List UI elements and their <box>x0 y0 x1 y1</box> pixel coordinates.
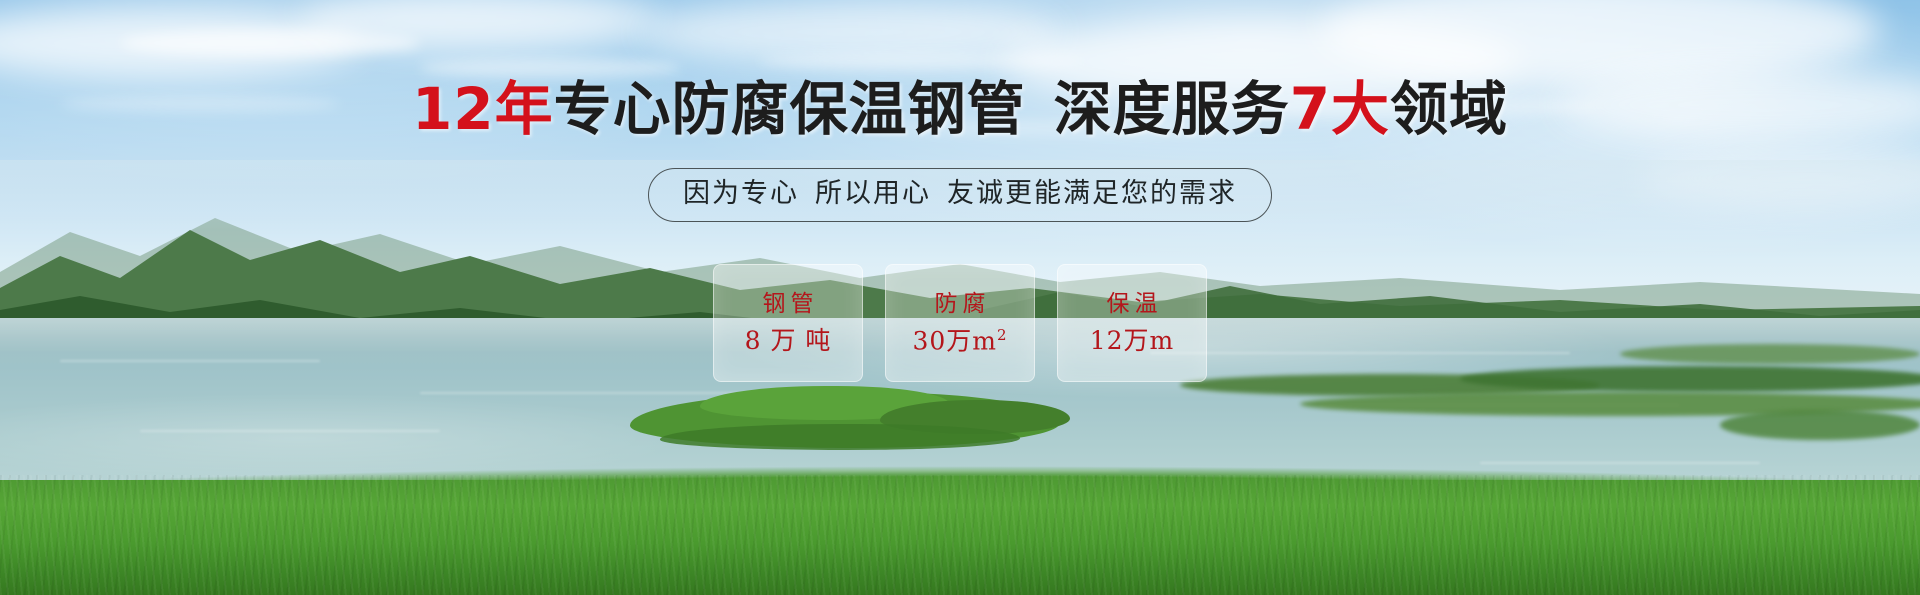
stat-card-value: 8 万 吨 <box>745 328 832 353</box>
stat-card-insulation: 保温 12万m <box>1057 264 1207 382</box>
headline-fields: 领域 <box>1390 75 1508 143</box>
headline: 12年专心防腐保温钢管深度服务7大领域 <box>0 80 1920 138</box>
stat-card-value-sup: 2 <box>997 326 1008 344</box>
stat-card-row: 钢管 8 万 吨 防腐 30万m2 保温 12万m <box>0 264 1920 382</box>
subtitle-container: 因为专心所以用心友诚更能满足您的需求 <box>0 168 1920 222</box>
stat-card-title: 钢管 <box>758 293 819 316</box>
stat-card-title: 防腐 <box>930 293 991 316</box>
headline-count: 7大 <box>1290 75 1390 143</box>
headline-service: 深度服务 <box>1054 75 1290 143</box>
grass-texture <box>0 475 1920 595</box>
subtitle-seg-1: 因为专心 <box>683 178 799 209</box>
stat-card-value-text: 12万m <box>1090 326 1175 355</box>
headline-years: 12年 <box>412 75 554 143</box>
hero-banner: 12年专心防腐保温钢管深度服务7大领域 因为专心所以用心友诚更能满足您的需求 钢… <box>0 0 1920 595</box>
subtitle-pill: 因为专心所以用心友诚更能满足您的需求 <box>648 168 1272 222</box>
stat-card-anticorrosion: 防腐 30万m2 <box>885 264 1035 382</box>
stat-card-value-text: 8 万 吨 <box>745 326 832 355</box>
stat-card-title: 保温 <box>1102 293 1163 316</box>
subtitle-seg-2: 所以用心 <box>815 178 931 209</box>
stat-card-value-text: 30万m <box>912 326 997 355</box>
subtitle-seg-3: 友诚更能满足您的需求 <box>947 178 1237 209</box>
stat-card-value: 30万m2 <box>912 328 1007 353</box>
headline-main: 专心防腐保温钢管 <box>554 75 1026 143</box>
stat-card-value: 12万m <box>1090 328 1175 353</box>
grass-foreground <box>0 480 1920 595</box>
stat-card-steel-pipe: 钢管 8 万 吨 <box>713 264 863 382</box>
